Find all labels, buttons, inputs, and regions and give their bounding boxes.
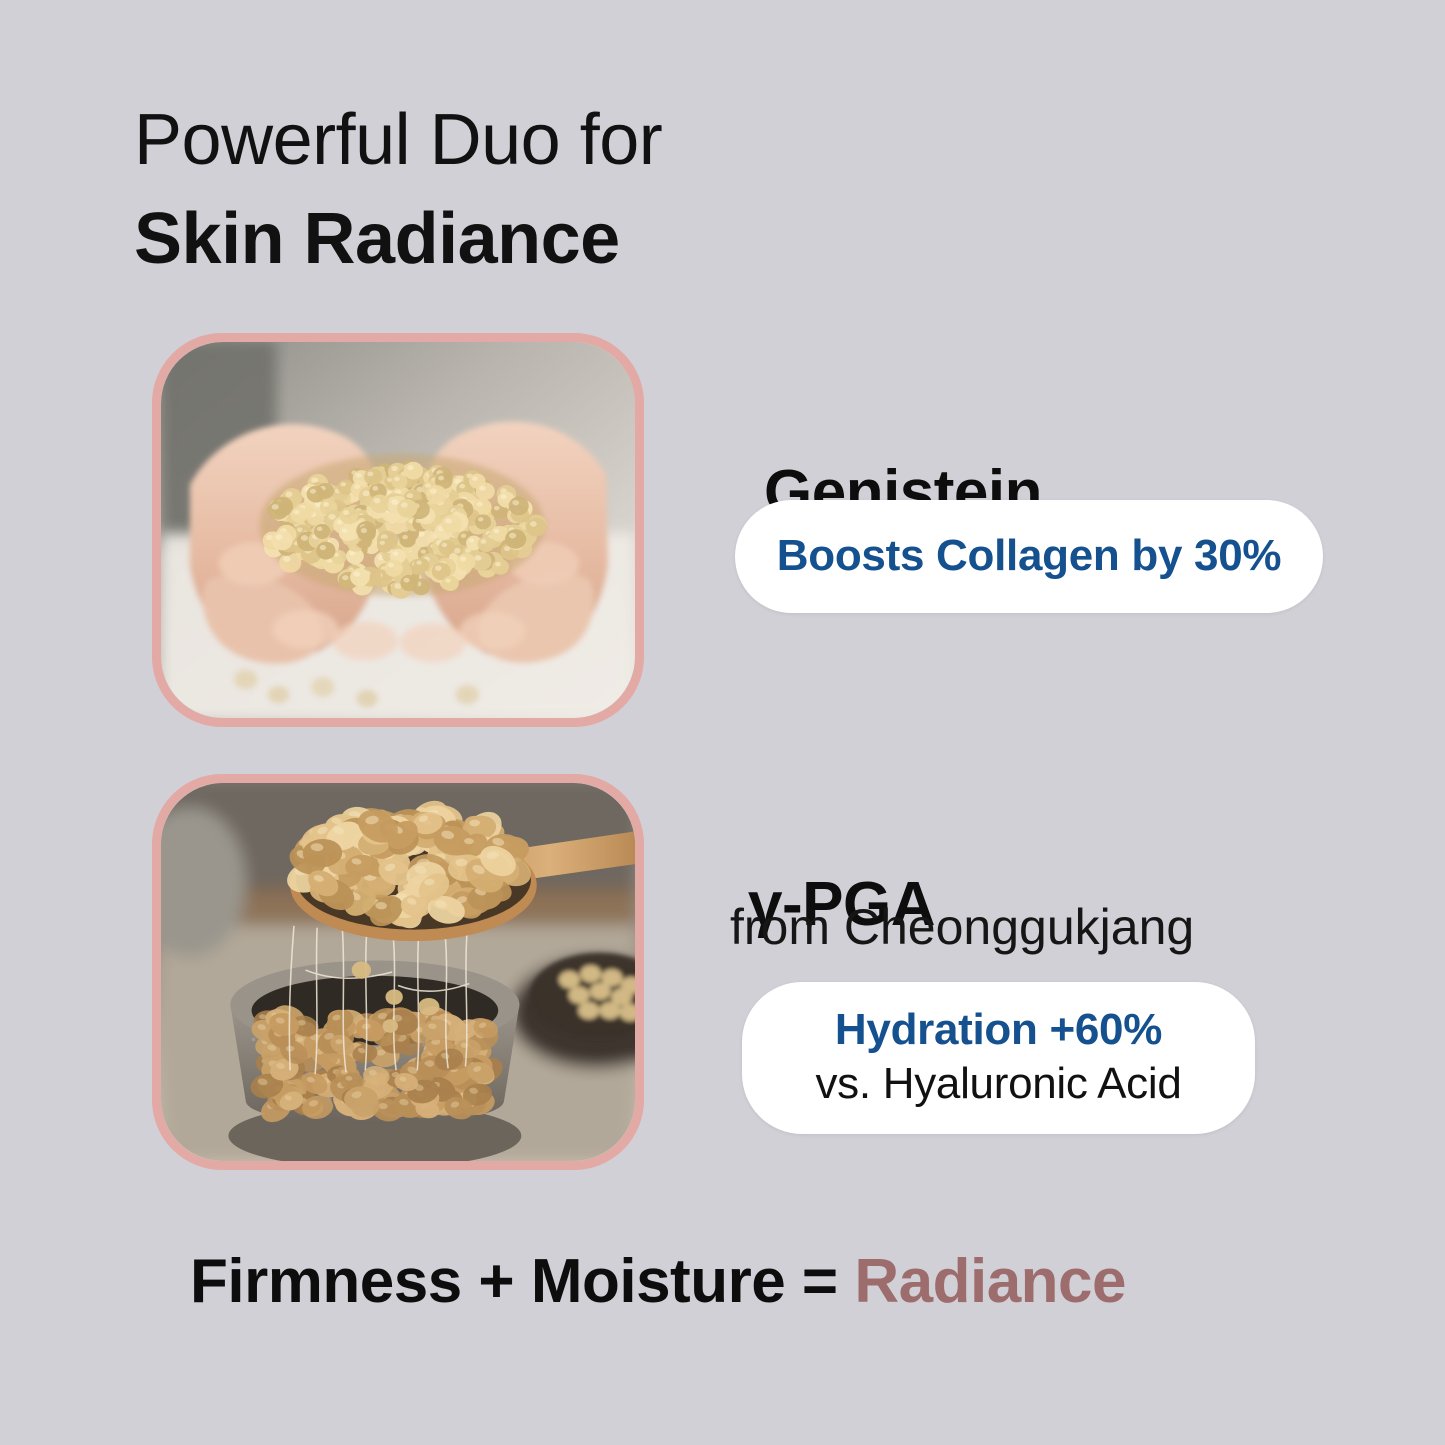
- badge-primary-text-gpga: Hydration +60%: [835, 1007, 1162, 1053]
- fermented-soybeans-photo-card: [152, 774, 644, 1170]
- tagline-prefix: Firmness + Moisture =: [190, 1247, 854, 1316]
- infographic-poster: Powerful Duo for Skin Radiance: [0, 0, 1445, 1445]
- hands-holding-soybeans-photo: [161, 342, 635, 718]
- badge-secondary-text-gpga: vs. Hyaluronic Acid: [815, 1059, 1181, 1108]
- badge-primary-text-genistein: Boosts Collagen by 30%: [777, 533, 1281, 579]
- tagline-accent: Radiance: [854, 1247, 1126, 1316]
- page-title: Powerful Duo for Skin Radiance: [134, 104, 894, 277]
- headline-line-1: Powerful Duo for: [134, 104, 894, 177]
- badge-hydration: Hydration +60% vs. Hyaluronic Acid: [742, 982, 1255, 1134]
- cheonggukjang-illustration: [161, 783, 635, 1161]
- fermented-soybeans-photo: [161, 783, 635, 1161]
- soybeans-illustration: [161, 342, 635, 718]
- tagline: Firmness + Moisture = Radiance: [190, 1246, 1126, 1317]
- badge-boosts-collagen: Boosts Collagen by 30%: [735, 500, 1323, 613]
- ingredient-subtitle-gpga: from Cheonggukjang: [730, 898, 1194, 956]
- hands-holding-soybeans-photo-card: [152, 333, 644, 727]
- headline-line-2: Skin Radiance: [134, 203, 894, 276]
